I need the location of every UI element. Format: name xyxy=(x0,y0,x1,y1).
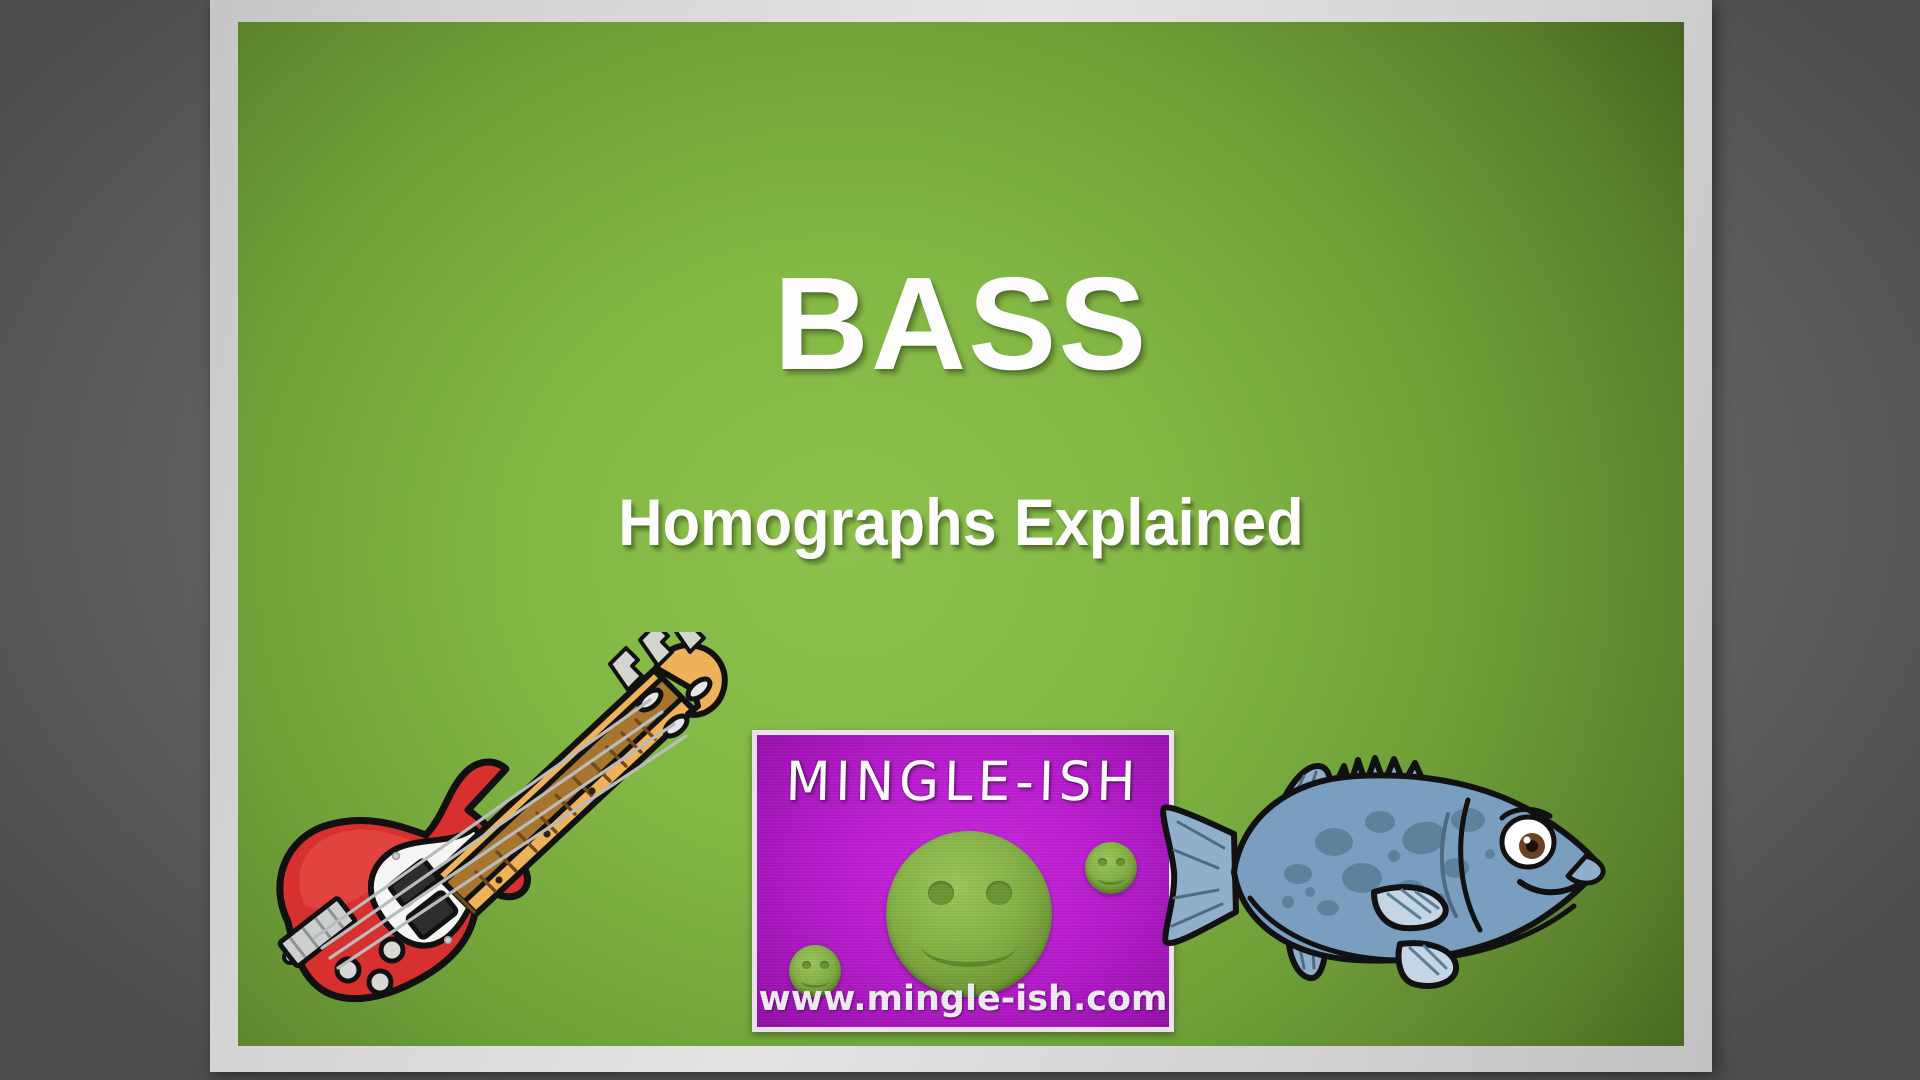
bass-guitar-icon xyxy=(258,632,758,1042)
bass-guitar-illustration xyxy=(258,632,758,1042)
page-title: BASS xyxy=(238,258,1684,390)
smiley-mouth xyxy=(1097,871,1125,885)
slide-canvas: BASS Homographs Explained xyxy=(238,22,1684,1046)
bass-fish-illustration xyxy=(1138,722,1618,1022)
smiley-eye-right xyxy=(1116,858,1125,866)
mingle-ish-url: www.mingle-ish.com xyxy=(757,982,1169,1017)
smiley-eye-left xyxy=(1098,858,1107,866)
bass-fish-icon xyxy=(1138,722,1618,1022)
smiley-eye-left xyxy=(802,961,811,969)
mingle-ish-logo: MINGLE-ISH www.mingle-ish.com xyxy=(752,730,1174,1032)
slide-subtitle: Homographs Explained xyxy=(289,489,1634,555)
smiley-eye-left xyxy=(928,881,954,905)
top-right-smiley-icon xyxy=(1085,842,1137,894)
smiley-eye-right xyxy=(820,961,829,969)
mingle-ish-wordmark: MINGLE-ISH xyxy=(765,755,1162,809)
main-smiley-icon xyxy=(886,831,1052,997)
smiley-mouth xyxy=(921,923,1017,967)
presentation-frame: BASS Homographs Explained xyxy=(210,0,1712,1072)
smiley-eye-right xyxy=(986,881,1012,905)
